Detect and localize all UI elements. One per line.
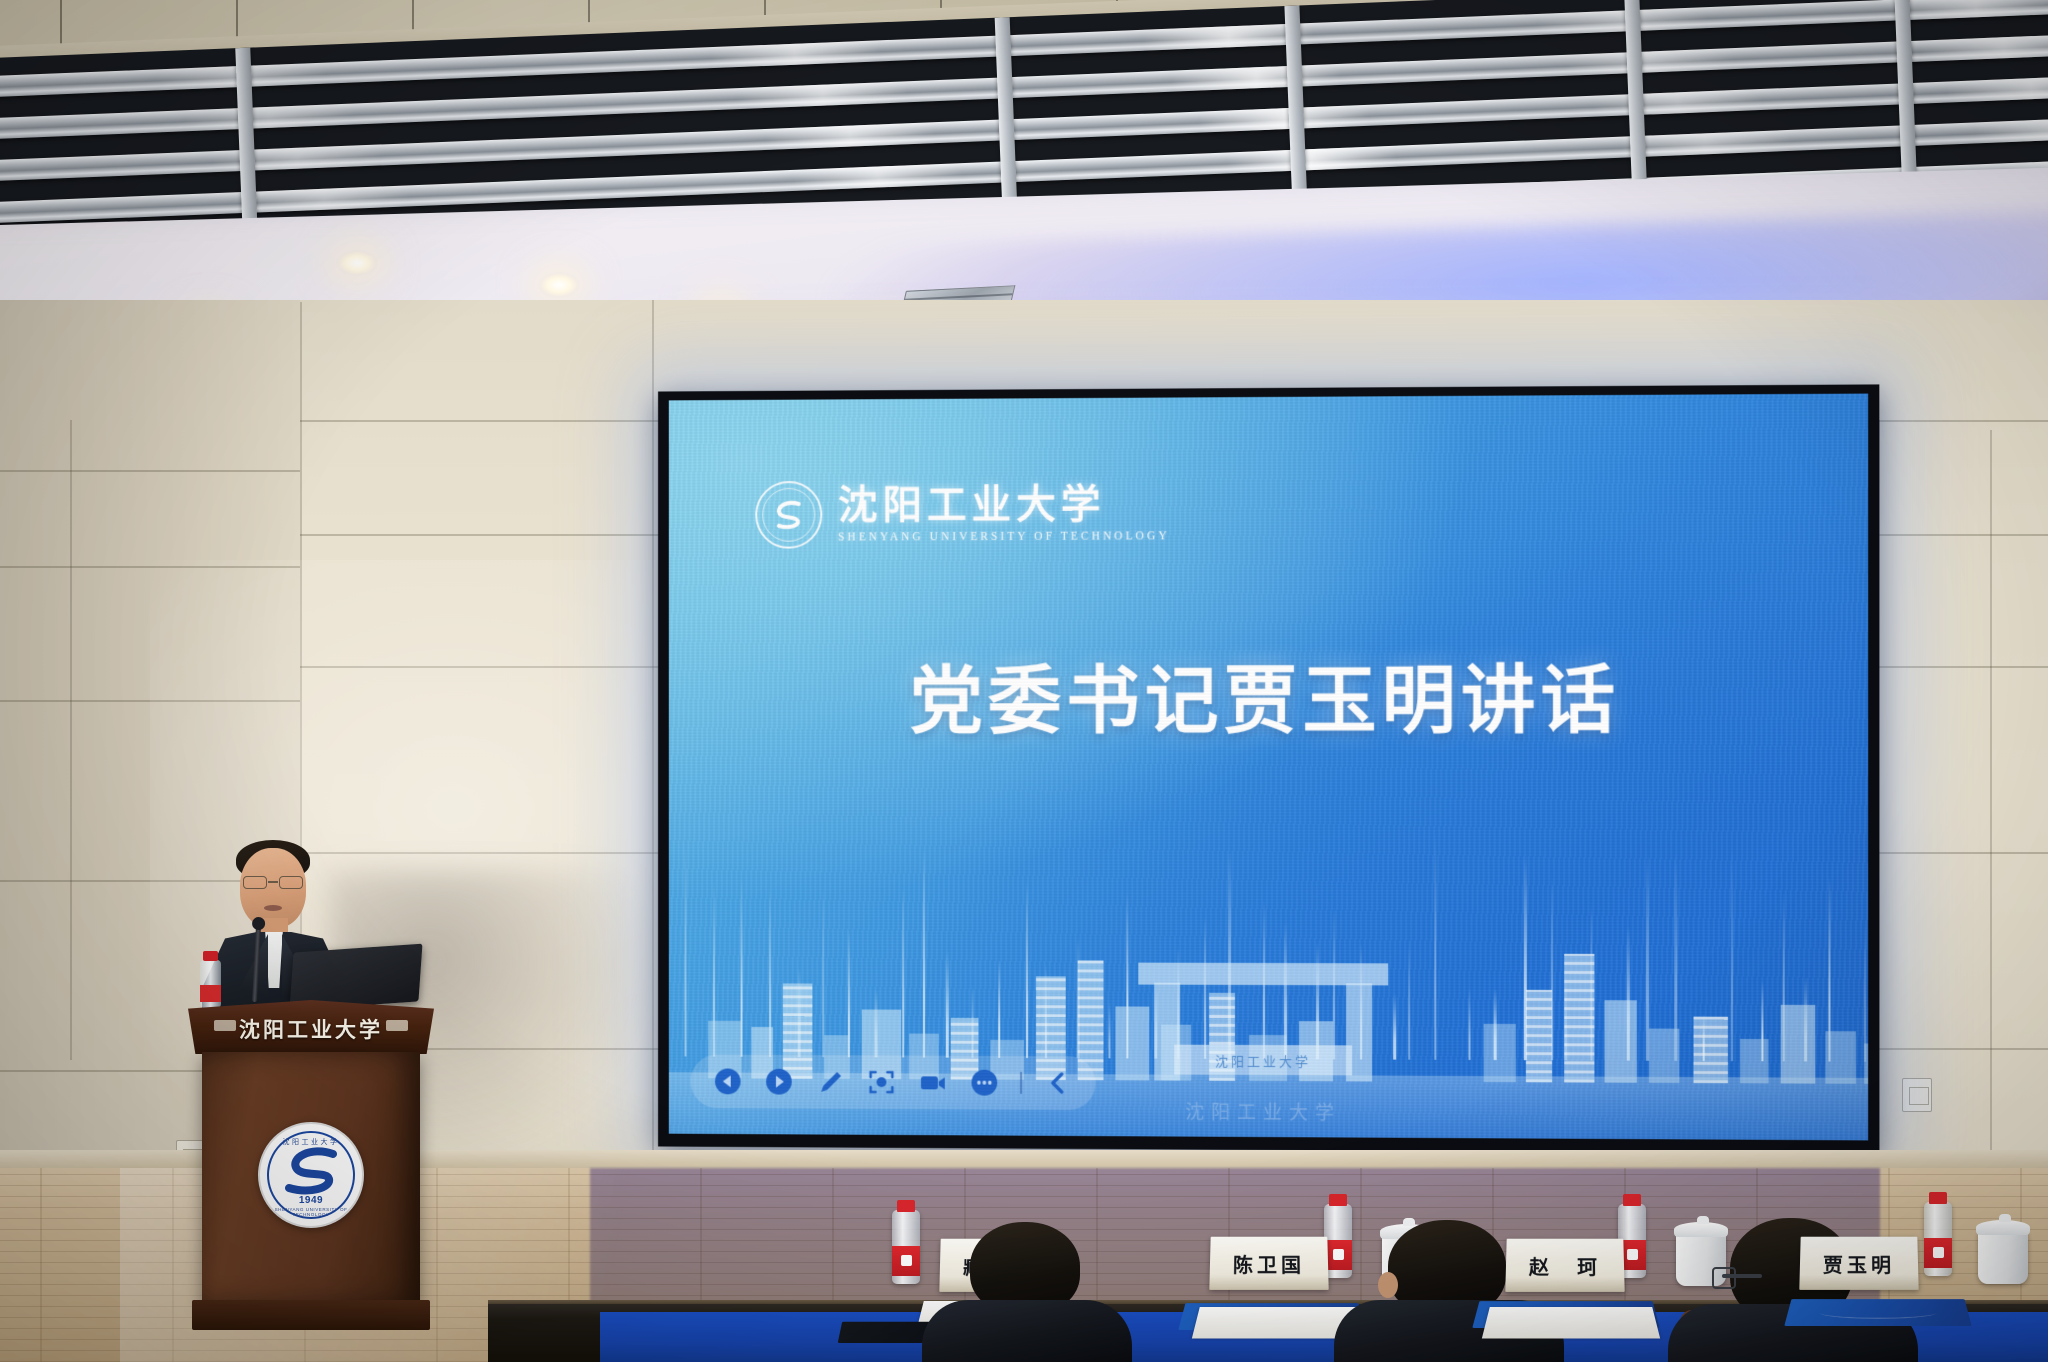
university-logo: 沈阳工业大学 SHENYANG UNIVERSITY OF TECHNOLOGY bbox=[755, 479, 1169, 548]
slide-surface: 沈阳工业大学 SHENYANG UNIVERSITY OF TECHNOLOGY… bbox=[669, 394, 1868, 1141]
light-beam bbox=[1108, 1003, 1110, 1059]
building-silhouette bbox=[1526, 990, 1552, 1082]
building-silhouette bbox=[1781, 1005, 1816, 1084]
building-silhouette bbox=[1564, 954, 1594, 1083]
placard-text: 陈卫国 bbox=[1233, 1249, 1305, 1278]
collapse-chevron-icon[interactable] bbox=[1042, 1067, 1074, 1099]
emblem-year: 1949 bbox=[260, 1195, 362, 1206]
tea-cup bbox=[1978, 1230, 2028, 1284]
presenter-toolbar[interactable] bbox=[690, 1054, 1095, 1110]
emblem-swoosh-icon bbox=[279, 1144, 347, 1202]
toolbar-divider bbox=[1020, 1072, 1022, 1094]
building-silhouette bbox=[1694, 1017, 1728, 1084]
attendee-body bbox=[922, 1300, 1132, 1362]
podium-water-bottle bbox=[200, 960, 221, 1008]
light-beam bbox=[1731, 848, 1733, 1061]
blue-folder bbox=[1784, 1299, 1971, 1326]
building-silhouette bbox=[1825, 1031, 1856, 1084]
light-beam bbox=[1434, 834, 1436, 1060]
slide-title: 党委书记贾玉明讲话 bbox=[669, 640, 1868, 748]
placard-chen-weiguo: 陈卫国 bbox=[1209, 1237, 1328, 1290]
video-camera-icon[interactable] bbox=[917, 1066, 949, 1098]
ceiling-downlight bbox=[336, 250, 378, 276]
gate-sign-text: 沈阳工业大学 bbox=[1174, 1045, 1352, 1076]
campus-gate-graphic: 沈阳工业大学 bbox=[1138, 963, 1388, 1082]
light-beams bbox=[669, 846, 1868, 847]
led-display-screen[interactable]: 沈阳工业大学 SHENYANG UNIVERSITY OF TECHNOLOGY… bbox=[658, 384, 1879, 1153]
previous-slide-icon[interactable] bbox=[712, 1065, 743, 1097]
light-beam bbox=[902, 888, 904, 1057]
pen-icon[interactable] bbox=[814, 1066, 846, 1098]
wall-panel-joint bbox=[1990, 430, 1992, 1150]
floor-seam bbox=[40, 1168, 42, 1362]
spotlight-icon[interactable] bbox=[866, 1066, 898, 1098]
wall-panel-joint bbox=[0, 470, 300, 472]
attendee-ear bbox=[1378, 1272, 1398, 1298]
meeting-paper bbox=[1482, 1307, 1660, 1338]
more-options-icon[interactable] bbox=[969, 1067, 1001, 1099]
light-beam bbox=[1864, 925, 1866, 1062]
water-bottle bbox=[1924, 1202, 1952, 1276]
light-beam bbox=[1468, 988, 1470, 1060]
water-bottle bbox=[1324, 1204, 1352, 1278]
building-silhouette bbox=[1484, 1024, 1516, 1082]
seal-swoosh-icon bbox=[769, 495, 808, 535]
ceiling-downlight bbox=[538, 272, 580, 298]
light-beam bbox=[685, 847, 687, 1057]
water-bottle bbox=[892, 1210, 920, 1284]
emblem-arc-text: SHENYANG UNIVERSITY OF TECHNOLOGY bbox=[260, 1207, 362, 1217]
university-seal-icon bbox=[755, 481, 822, 549]
next-slide-icon[interactable] bbox=[763, 1066, 795, 1098]
placard-text: 赵 珂 bbox=[1529, 1251, 1601, 1280]
wall-panel-joint bbox=[70, 420, 72, 1060]
building-silhouette bbox=[1649, 1029, 1679, 1083]
placard-text: 贾玉明 bbox=[1823, 1249, 1895, 1278]
wall-switch-panel[interactable] bbox=[1902, 1078, 1932, 1112]
university-name-en: SHENYANG UNIVERSITY OF TECHNOLOGY bbox=[838, 530, 1170, 543]
wall-panel-joint bbox=[0, 700, 300, 702]
light-beam bbox=[923, 848, 925, 1057]
slide-watermark: 沈阳工业大学 bbox=[1185, 1098, 1341, 1126]
podium-base bbox=[192, 1300, 430, 1330]
building-silhouettes bbox=[669, 846, 1868, 847]
light-beam bbox=[946, 952, 948, 1058]
light-beam bbox=[1408, 940, 1410, 1059]
glasses-icon bbox=[242, 876, 304, 889]
placard-jia-yuming: 贾玉明 bbox=[1799, 1237, 1918, 1290]
building-silhouette bbox=[1605, 1000, 1637, 1083]
auditorium-scene: 沈阳工业大学 SHENYANG UNIVERSITY OF TECHNOLOGY… bbox=[0, 0, 2048, 1362]
placard-zhao-ke: 赵 珂 bbox=[1505, 1239, 1624, 1292]
speaker-mouth bbox=[264, 905, 282, 911]
light-beam bbox=[1026, 881, 1028, 1058]
lectern-podium: 沈阳工业大学 沈阳工业大学 1949 SHENYANG UNIVERSITY O… bbox=[188, 1000, 434, 1330]
wall-panel-joint bbox=[0, 566, 300, 568]
light-beam bbox=[1393, 993, 1395, 1059]
university-name-cn: 沈阳工业大学 bbox=[838, 484, 1170, 525]
glasses-icon bbox=[1722, 1274, 1762, 1278]
light-beam bbox=[822, 887, 824, 1057]
podium-university-name: 沈阳工业大学 bbox=[188, 1014, 434, 1044]
university-emblem: 沈阳工业大学 1949 SHENYANG UNIVERSITY OF TECHN… bbox=[258, 1122, 364, 1228]
